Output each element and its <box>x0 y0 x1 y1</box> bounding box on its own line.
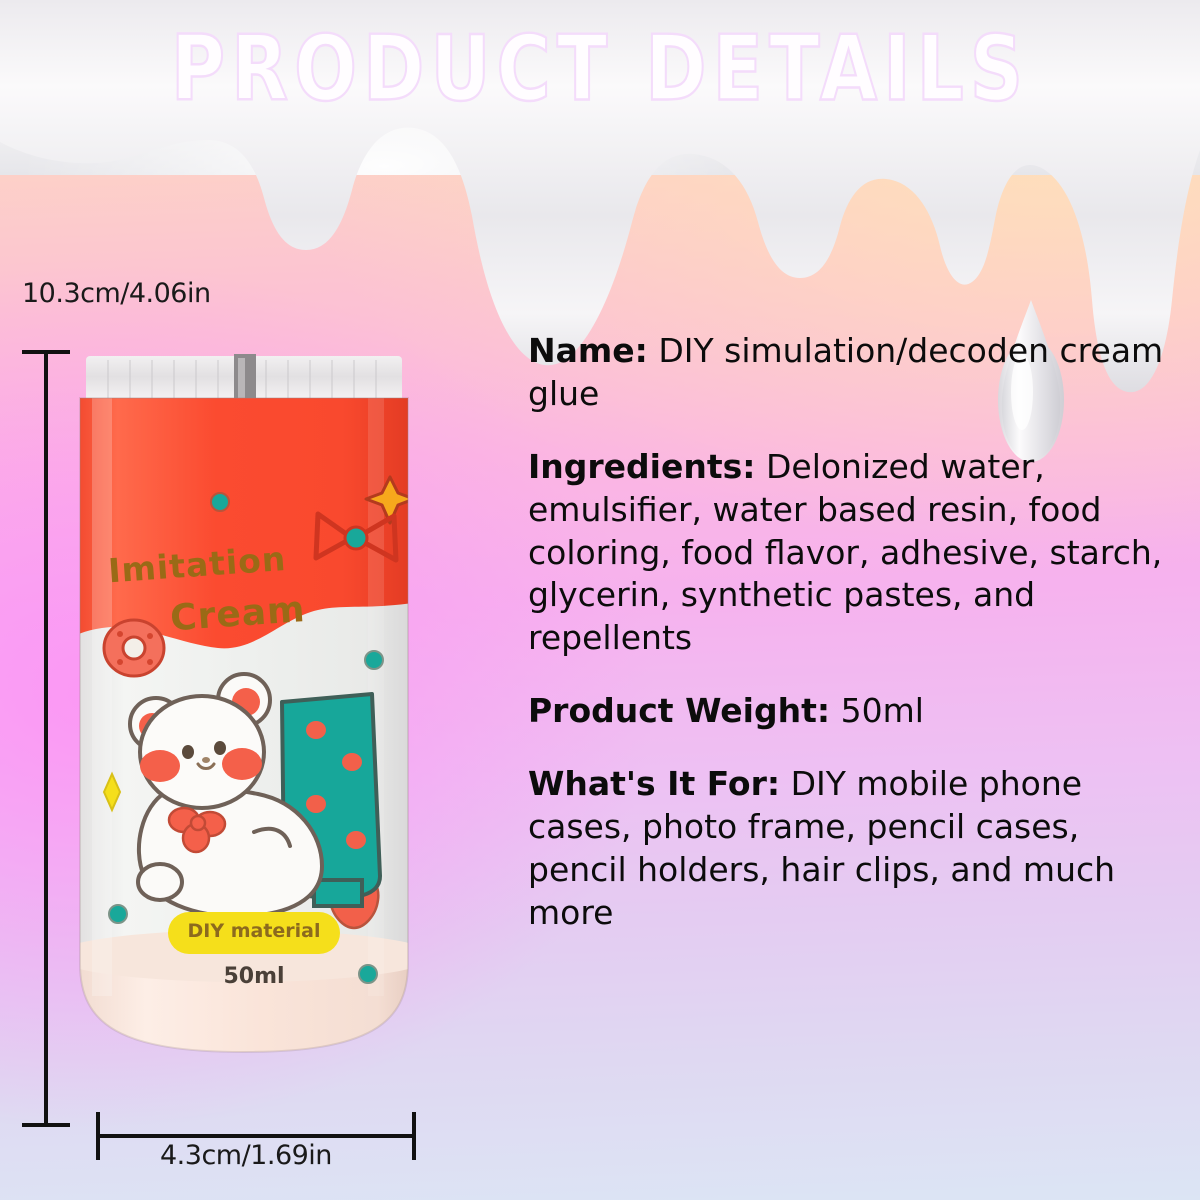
width-measure-line <box>98 1134 416 1138</box>
detail-weight-label: Product Weight: <box>528 691 830 730</box>
page-title: PRODUCT DETAILS <box>0 17 1200 122</box>
volume-text: 50ml <box>174 964 334 989</box>
detail-name: Name: DIY simulation/decoden cream glue <box>528 330 1178 416</box>
detail-ingredients-label: Ingredients: <box>528 447 755 486</box>
product-details-infographic: PRODUCT DETAILS 10.3cm/4.06in 4.3cm/1.69… <box>0 0 1200 1200</box>
detail-ingredients: Ingredients: Delonized water, emulsifier… <box>528 446 1178 660</box>
height-line-cap-bottom <box>22 1123 70 1127</box>
detail-weight: Product Weight: 50ml <box>528 690 1178 733</box>
detail-weight-value: 50ml <box>841 691 924 730</box>
height-measure-line <box>44 352 48 1127</box>
width-line-cap-right <box>412 1112 416 1160</box>
detail-usage: What's It For: DIY mobile phone cases, p… <box>528 763 1178 935</box>
product-tube-image: Imitation Cream DIY material 50ml <box>68 352 420 1092</box>
height-dimension-label: 10.3cm/4.06in <box>22 278 211 309</box>
diy-material-badge-text: DIY material <box>174 920 334 942</box>
detail-usage-label: What's It For: <box>528 764 780 803</box>
page-title-text: PRODUCT DETAILS <box>171 17 1029 122</box>
detail-name-label: Name: <box>528 331 648 370</box>
product-details-text: Name: DIY simulation/decoden cream glue … <box>528 330 1178 935</box>
width-dimension-label: 4.3cm/1.69in <box>160 1140 332 1171</box>
